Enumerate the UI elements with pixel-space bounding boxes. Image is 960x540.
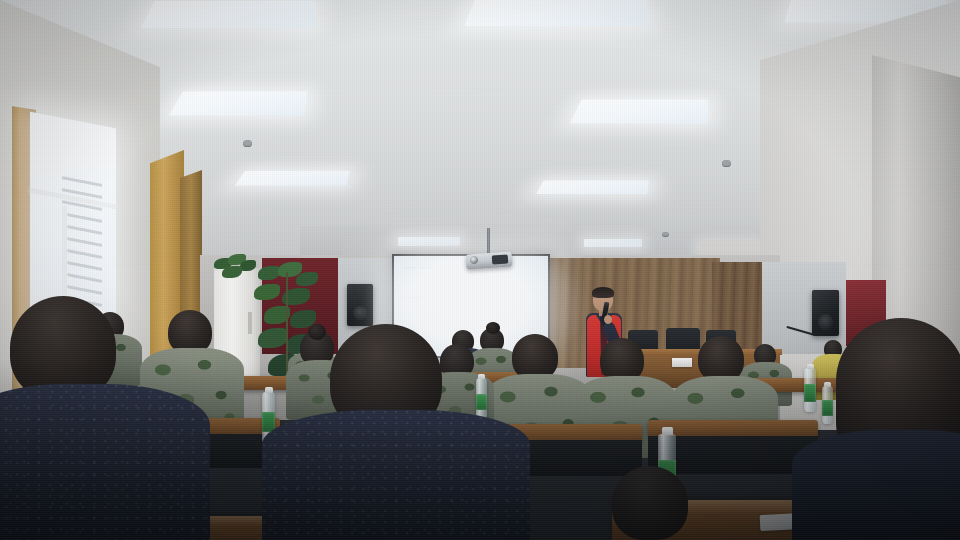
water-bottle-4[interactable] <box>804 368 816 412</box>
smoke-detector-left <box>243 140 252 147</box>
bottle-cap <box>478 374 485 379</box>
attendee-bun-2-hairbun <box>308 324 326 340</box>
light-panel-10 <box>398 237 460 246</box>
light-panel-5 <box>570 100 708 124</box>
speaker-right <box>812 290 839 336</box>
speaker-cone-left <box>353 306 368 320</box>
slide-text-line-1: ········· ··· ···· <box>402 265 476 271</box>
smoke-detector-far <box>662 232 669 237</box>
presenter-hand <box>604 315 612 324</box>
water-bottle-5[interactable] <box>822 386 833 424</box>
bottle-cap <box>662 427 673 435</box>
leaf <box>254 284 280 300</box>
attendee-bun-1-hairbun <box>486 322 500 334</box>
light-panel-7 <box>235 171 350 186</box>
bottle-label <box>476 394 487 410</box>
water-bottle-2[interactable] <box>476 378 487 420</box>
light-panel-1 <box>141 1 316 28</box>
attendee-partial-right-head <box>612 466 688 540</box>
bottle-cap <box>265 387 273 393</box>
light-panel-8 <box>536 180 649 194</box>
light-panel-4 <box>169 92 308 116</box>
slide-text-line-2: ···· ······· ·· <box>403 296 463 301</box>
speaker-left <box>347 284 373 326</box>
presenter-hair <box>592 287 614 298</box>
attendee-navy-suit-center-body <box>262 410 530 540</box>
potted-plant-small <box>212 252 258 278</box>
light-panel-2 <box>464 0 649 26</box>
attendee-navy-suit-left-body <box>0 384 210 540</box>
bottle-cap <box>807 364 814 369</box>
projector-vent <box>492 254 509 264</box>
name-card <box>672 358 692 367</box>
conference-room-photo: ········· ··· ···· ···· ······· ·· <box>0 0 960 540</box>
light-panel-11 <box>584 239 642 247</box>
bottle-cap <box>824 382 831 387</box>
leaf <box>240 260 256 271</box>
bottle-label <box>804 384 816 402</box>
leaf <box>296 272 318 286</box>
leaf <box>258 266 280 280</box>
leaf <box>222 266 242 278</box>
leaf <box>258 328 288 348</box>
speaker-cone-right <box>818 314 833 330</box>
bottle-label <box>822 400 833 416</box>
smoke-detector-right <box>722 160 731 167</box>
projector-mount-pole <box>487 228 490 256</box>
attendee-woman-right-body <box>792 430 960 540</box>
